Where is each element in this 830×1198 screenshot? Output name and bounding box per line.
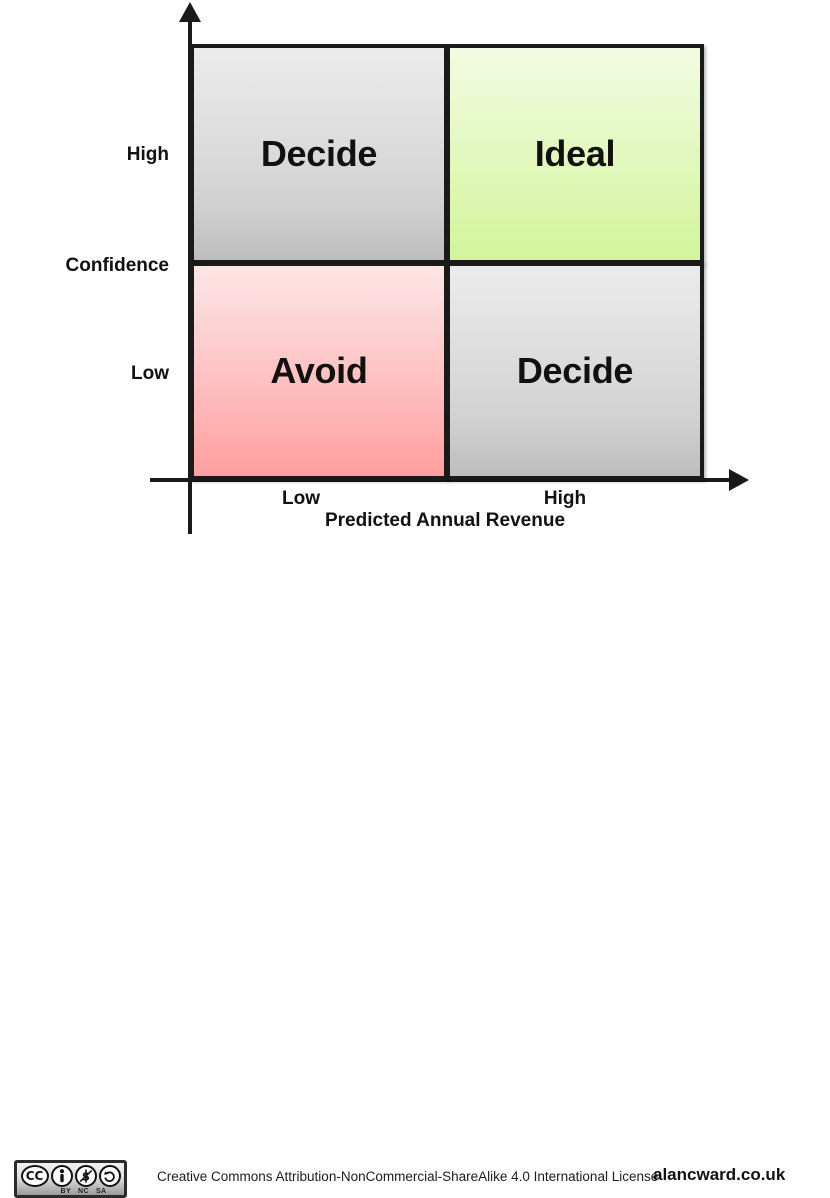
cc-label-by: BY [61, 1188, 72, 1195]
cc-badge-icon-row: CC S [21, 1164, 121, 1188]
x-axis-tick-low: Low [234, 488, 368, 510]
y-axis-title: Confidence [0, 255, 169, 277]
quadrant-low-confidence-high-revenue[interactable]: Decide [446, 262, 704, 480]
cc-badge-label-row: BY NC SA [35, 1188, 107, 1195]
creative-commons-badge-icon[interactable]: CC S [14, 1160, 127, 1198]
x-axis-title: Predicted Annual Revenue [300, 510, 590, 532]
quadrant-high-confidence-high-revenue[interactable]: Ideal [446, 44, 704, 264]
y-axis-arrow-icon [179, 2, 201, 22]
quadrant-high-confidence-low-revenue[interactable]: Decide [190, 44, 448, 264]
quadrant-label: Avoid [270, 353, 367, 389]
license-text: Creative Commons Attribution-NonCommerci… [157, 1169, 658, 1184]
decision-matrix: Decide Ideal Avoid Decide [190, 44, 704, 480]
y-axis-tick-low: Low [0, 363, 169, 385]
quadrant-label: Decide [261, 136, 377, 172]
site-credit: alancward.co.uk [653, 1165, 785, 1185]
sharealike-arrow-icon [99, 1165, 121, 1187]
quadrant-label: Ideal [535, 136, 616, 172]
quadrant-label: Decide [517, 353, 633, 389]
diagram-canvas: High Confidence Low Low High Predicted A… [0, 0, 830, 623]
attribution-person-icon [51, 1165, 73, 1187]
cc-logo-glyph: CC [26, 1170, 44, 1182]
quadrant-low-confidence-low-revenue[interactable]: Avoid [190, 262, 448, 480]
y-axis-tick-high: High [0, 144, 169, 166]
noncommercial-crossed-dollar-icon: S [75, 1165, 97, 1187]
cc-label-sa: SA [96, 1188, 107, 1195]
x-axis-arrow-icon [729, 469, 749, 491]
cc-logo-icon: CC [21, 1165, 49, 1187]
cc-label-nc: NC [78, 1188, 89, 1195]
x-axis-tick-high: High [498, 488, 632, 510]
footer: CC S [0, 575, 830, 623]
